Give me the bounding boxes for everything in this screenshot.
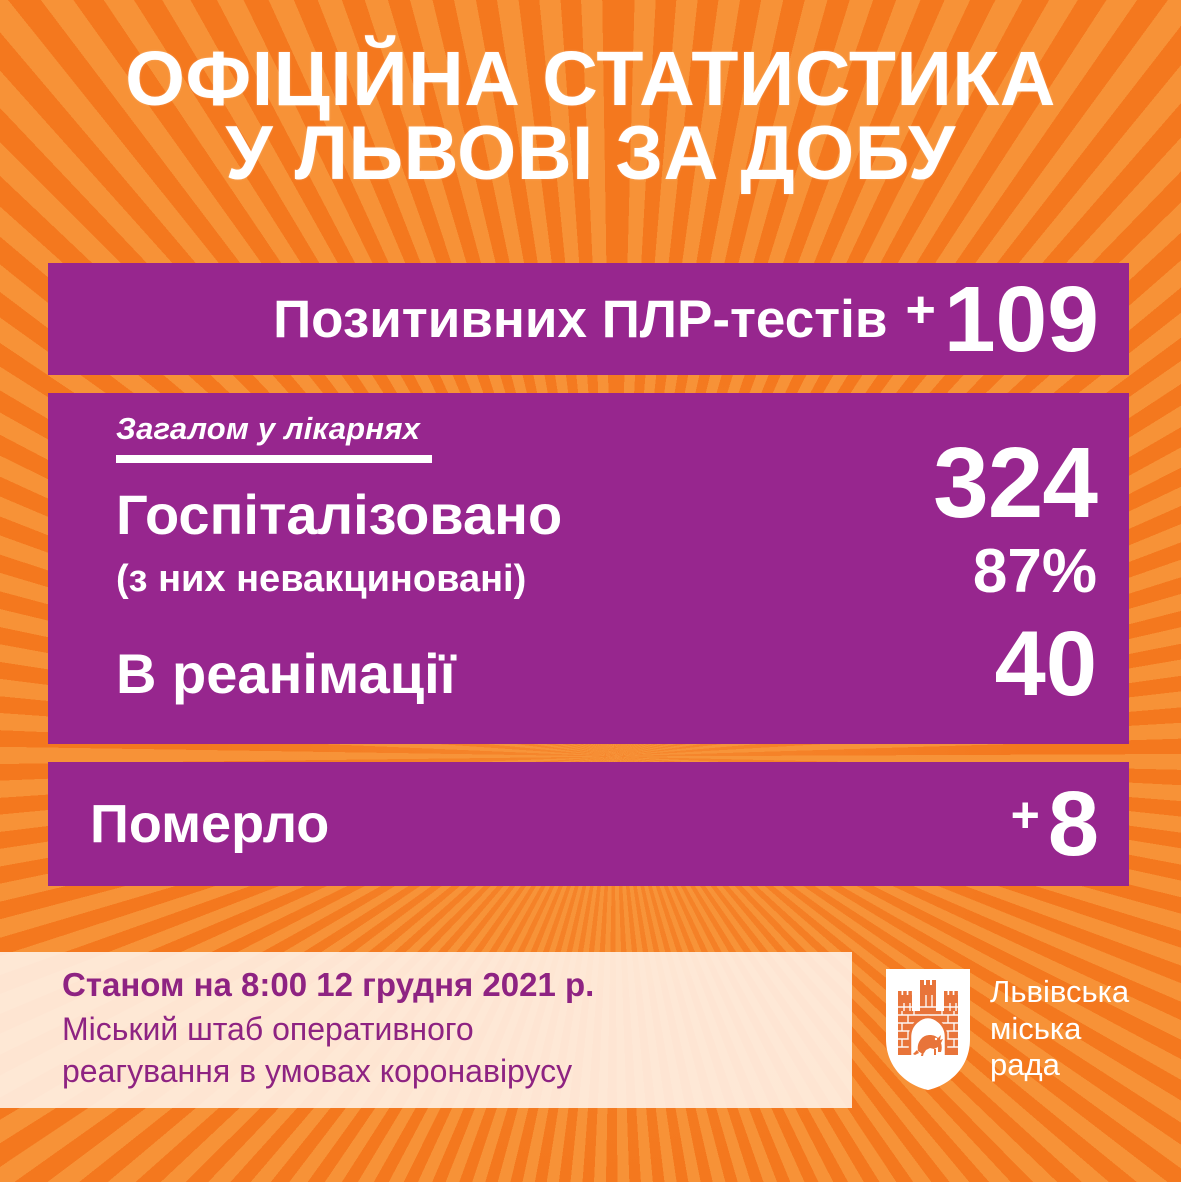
unvaccinated-label: (з них невакциновані): [116, 558, 526, 601]
unvaccinated-percent: 87%: [973, 541, 1097, 603]
died-label: Померло: [90, 793, 329, 855]
footer-subtitle-line-2: реагування в умовах коронавірусу: [62, 1050, 594, 1092]
stat-card-hospital: Загалом у лікарнях Госпіталізовано 324 (…: [48, 393, 1129, 744]
pcr-sign: +: [905, 280, 935, 340]
icu-value: 40: [995, 618, 1097, 710]
title-line-2: У ЛЬВОВІ ЗА ДОБУ: [0, 117, 1181, 191]
footer-band: Станом на 8:00 12 грудня 2021 р. Міський…: [0, 952, 852, 1108]
hospital-caption: Загалом у лікарнях: [116, 411, 420, 447]
title-line-1: ОФІЦІЙНА СТАТИСТИКА: [0, 42, 1181, 117]
pcr-label: Позитивних ПЛР-тестів: [273, 289, 887, 350]
pcr-row: Позитивних ПЛР-тестів + 109: [76, 263, 1099, 375]
logo-text-line-2: міська: [990, 1011, 1129, 1048]
died-sign: +: [1011, 786, 1040, 844]
footer-text-block: Станом на 8:00 12 грудня 2021 р. Міський…: [62, 962, 594, 1092]
lviv-city-council-logo: Львівська міська рада: [884, 958, 1164, 1100]
pcr-value: 109: [944, 273, 1099, 366]
icu-label: В реанімації: [116, 641, 455, 706]
stat-card-pcr: Позитивних ПЛР-тестів + 109: [48, 263, 1129, 375]
hospital-caption-underline: [116, 455, 432, 463]
lviv-coat-of-arms-icon: [884, 967, 972, 1092]
footer-subtitle-line-1: Міський штаб оперативного: [62, 1008, 594, 1050]
stat-card-died: Померло + 8: [48, 762, 1129, 886]
hospitalized-label: Госпіталізовано: [116, 481, 562, 548]
logo-text-line-3: рада: [990, 1047, 1129, 1084]
logo-text-line-1: Львівська: [990, 974, 1129, 1011]
died-value: 8: [1048, 778, 1099, 870]
died-row: Померло + 8: [76, 762, 1099, 886]
hospitalized-value: 324: [933, 433, 1097, 533]
died-value-group: + 8: [1011, 778, 1099, 870]
footer-date: Станом на 8:00 12 грудня 2021 р.: [62, 962, 594, 1008]
page-title: ОФІЦІЙНА СТАТИСТИКА У ЛЬВОВІ ЗА ДОБУ: [0, 42, 1181, 192]
infographic-poster: ОФІЦІЙНА СТАТИСТИКА У ЛЬВОВІ ЗА ДОБУ Поз…: [0, 0, 1181, 1182]
logo-text: Львівська міська рада: [990, 974, 1129, 1084]
